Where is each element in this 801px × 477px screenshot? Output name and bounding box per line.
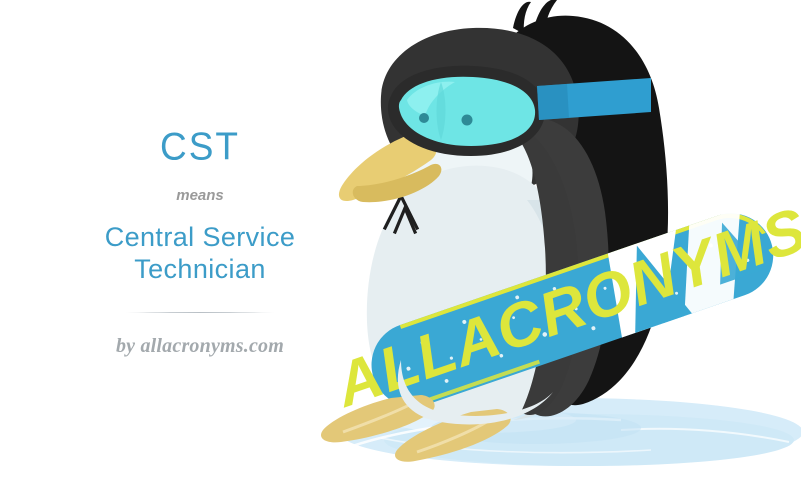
site-credit: by allacronyms.com [116,335,284,358]
expansion-line-1: Central Service [105,222,296,254]
eye-right-icon [462,115,473,126]
acronym-expansion: Central Service Technician [105,222,296,286]
eye-left-icon [419,113,429,123]
expansion-line-2: Technician [105,254,296,286]
means-connector: means [176,187,224,204]
divider-rule [125,312,275,313]
definition-text-block: CST means Central Service Technician by … [0,0,400,477]
acronym-card: CST means Central Service Technician by … [0,0,801,477]
acronym-title: CST [160,127,240,166]
